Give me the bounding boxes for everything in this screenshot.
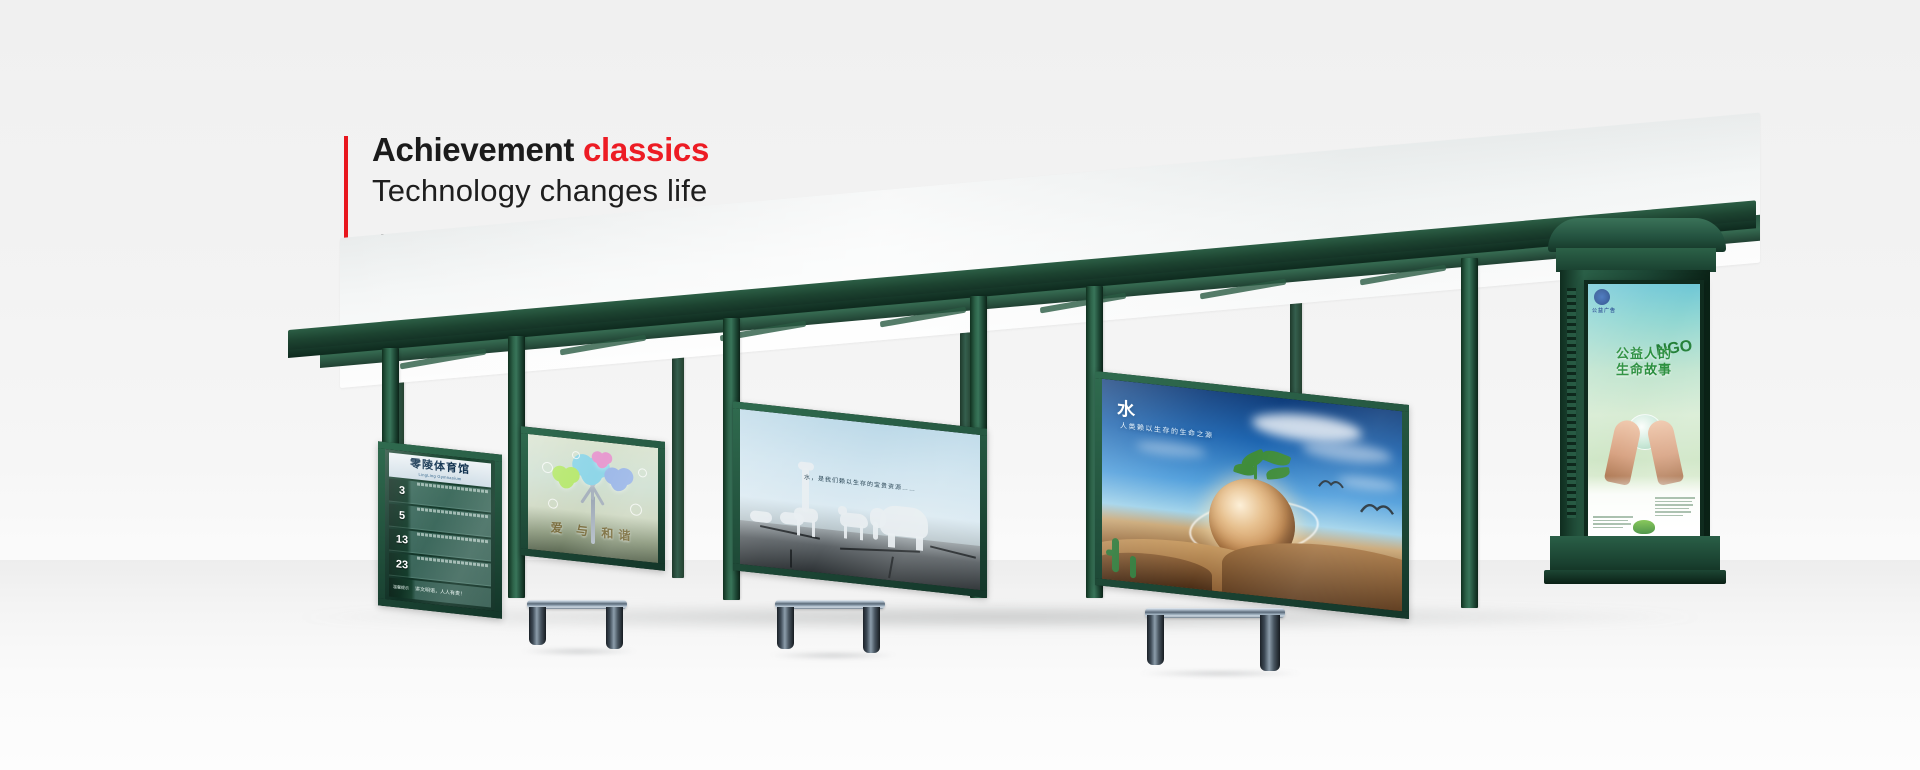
vertical-ad-title-line-2: 生命故事: [1616, 362, 1672, 377]
timetable-footer-tag: 温馨提示: [389, 585, 413, 592]
vertical-lightbox-pylon[interactable]: 公益广告 NGO 公益人的 生命故事: [1560, 248, 1710, 578]
ad-2-screen: 爱 与 和谐: [528, 434, 658, 563]
ad-lightbox-2[interactable]: 爱 与 和谐: [521, 426, 665, 571]
vertical-ad-title: 公益人的 生命故事: [1588, 346, 1700, 379]
ad-2-artwork: 爱 与 和谐: [528, 434, 658, 563]
leaf-icon: [1633, 520, 1655, 534]
bench-leg: [777, 607, 794, 649]
bubble: [548, 498, 558, 509]
crack-line: [840, 548, 920, 553]
cloud: [1252, 409, 1362, 447]
bench-shadow: [769, 652, 897, 659]
camel-silhouette: [860, 526, 863, 540]
vertical-ad-title-line-1: 公益人的: [1616, 346, 1672, 361]
bird-icon: [1360, 499, 1394, 519]
scene-canvas: Achievement classics Technology changes …: [0, 0, 1920, 770]
bench-shadow: [1139, 670, 1301, 677]
bench-leg: [606, 607, 623, 649]
ad-3-artwork: 水，是我们赖以生存的宝贵资源……: [740, 409, 980, 590]
route-number: 5: [389, 503, 415, 528]
bubble: [572, 451, 580, 460]
camel-silhouette: [838, 506, 847, 516]
elephant-silhouette: [888, 533, 895, 548]
bench-leg: [529, 607, 546, 645]
ad-4-title: 水: [1117, 394, 1136, 422]
ad-3-screen: 水，是我们赖以生存的宝贵资源……: [740, 409, 980, 590]
bubble: [542, 461, 553, 473]
pylon-neck: [1556, 248, 1716, 272]
sand-dune: [1222, 534, 1402, 612]
pylon-vent-slots: [1567, 288, 1576, 518]
cloud: [1338, 474, 1398, 493]
bench-leg: [1147, 615, 1164, 665]
sprout-leaf: [1265, 467, 1291, 480]
giraffe-silhouette: [812, 521, 815, 537]
canopy-roof: [340, 238, 1760, 418]
ad-4-subtitle: 人类赖以生存的生命之源: [1120, 421, 1214, 441]
bus-shelter: 零陵体育馆 LingLing Gymnasium 3 5: [0, 0, 1920, 770]
vertical-ad-artwork: 公益广告 NGO 公益人的 生命故事: [1588, 284, 1700, 536]
ad-lightbox-3[interactable]: 水，是我们赖以生存的宝贵资源……: [733, 401, 987, 598]
giraffe-silhouette: [798, 461, 814, 471]
vertical-ad-screen[interactable]: 公益广告 NGO 公益人的 生命故事: [1584, 280, 1704, 540]
cloud: [1136, 438, 1206, 460]
cactus: [1130, 556, 1136, 579]
vertical-ad-footer: [1588, 476, 1700, 536]
bubble: [638, 468, 647, 478]
elephant-silhouette: [873, 521, 878, 540]
route-rows: 3 5 13: [389, 478, 491, 586]
route-number: 23: [389, 553, 415, 578]
camel-silhouette: [844, 524, 847, 538]
pylon-base-plinth: [1544, 570, 1726, 584]
bench-leg: [863, 607, 880, 653]
sprout-leaf: [1261, 447, 1291, 470]
vertical-ad-logo-text: 公益广告: [1592, 307, 1616, 314]
ad-3-slogan: 水，是我们赖以生存的宝贵资源……: [740, 465, 980, 500]
elephant-silhouette: [916, 536, 923, 551]
timetable-lightbox[interactable]: 零陵体育馆 LingLing Gymnasium 3 5: [378, 441, 502, 618]
crack-line: [930, 545, 976, 558]
route-number: 13: [389, 528, 415, 553]
route-number: 3: [389, 478, 415, 503]
cactus: [1106, 549, 1116, 556]
ad-lightbox-4[interactable]: 水 人类赖以生存的生命之源: [1095, 371, 1409, 619]
heart-shape: [555, 469, 578, 492]
sprout-stem: [1254, 457, 1257, 479]
timetable-screen: 零陵体育馆 LingLing Gymnasium 3 5: [385, 449, 495, 611]
timetable-body: 零陵体育馆 LingLing Gymnasium 3 5: [385, 449, 495, 611]
ad-4-artwork: 水 人类赖以生存的生命之源: [1102, 379, 1402, 612]
pylon-crown-cap: [1548, 218, 1726, 252]
crack-line: [790, 549, 792, 567]
timetable-footer-text: 讲文明语，人人有责！: [413, 586, 491, 602]
ad-4-screen: 水 人类赖以生存的生命之源: [1102, 379, 1402, 612]
ngo-logo-icon: [1594, 289, 1610, 305]
bird-icon: [1318, 476, 1344, 491]
vertical-ad-body-text-left: [1593, 516, 1633, 530]
heart-shape: [606, 470, 630, 494]
cloud: [1302, 438, 1392, 466]
crack-line: [760, 525, 820, 540]
bench-leg: [1260, 615, 1280, 671]
front-post-6: [1461, 258, 1478, 608]
vertical-ad-body-text-right: [1655, 497, 1695, 518]
crack-line: [888, 556, 894, 578]
bubble: [630, 503, 642, 516]
bench-shadow: [521, 648, 637, 655]
